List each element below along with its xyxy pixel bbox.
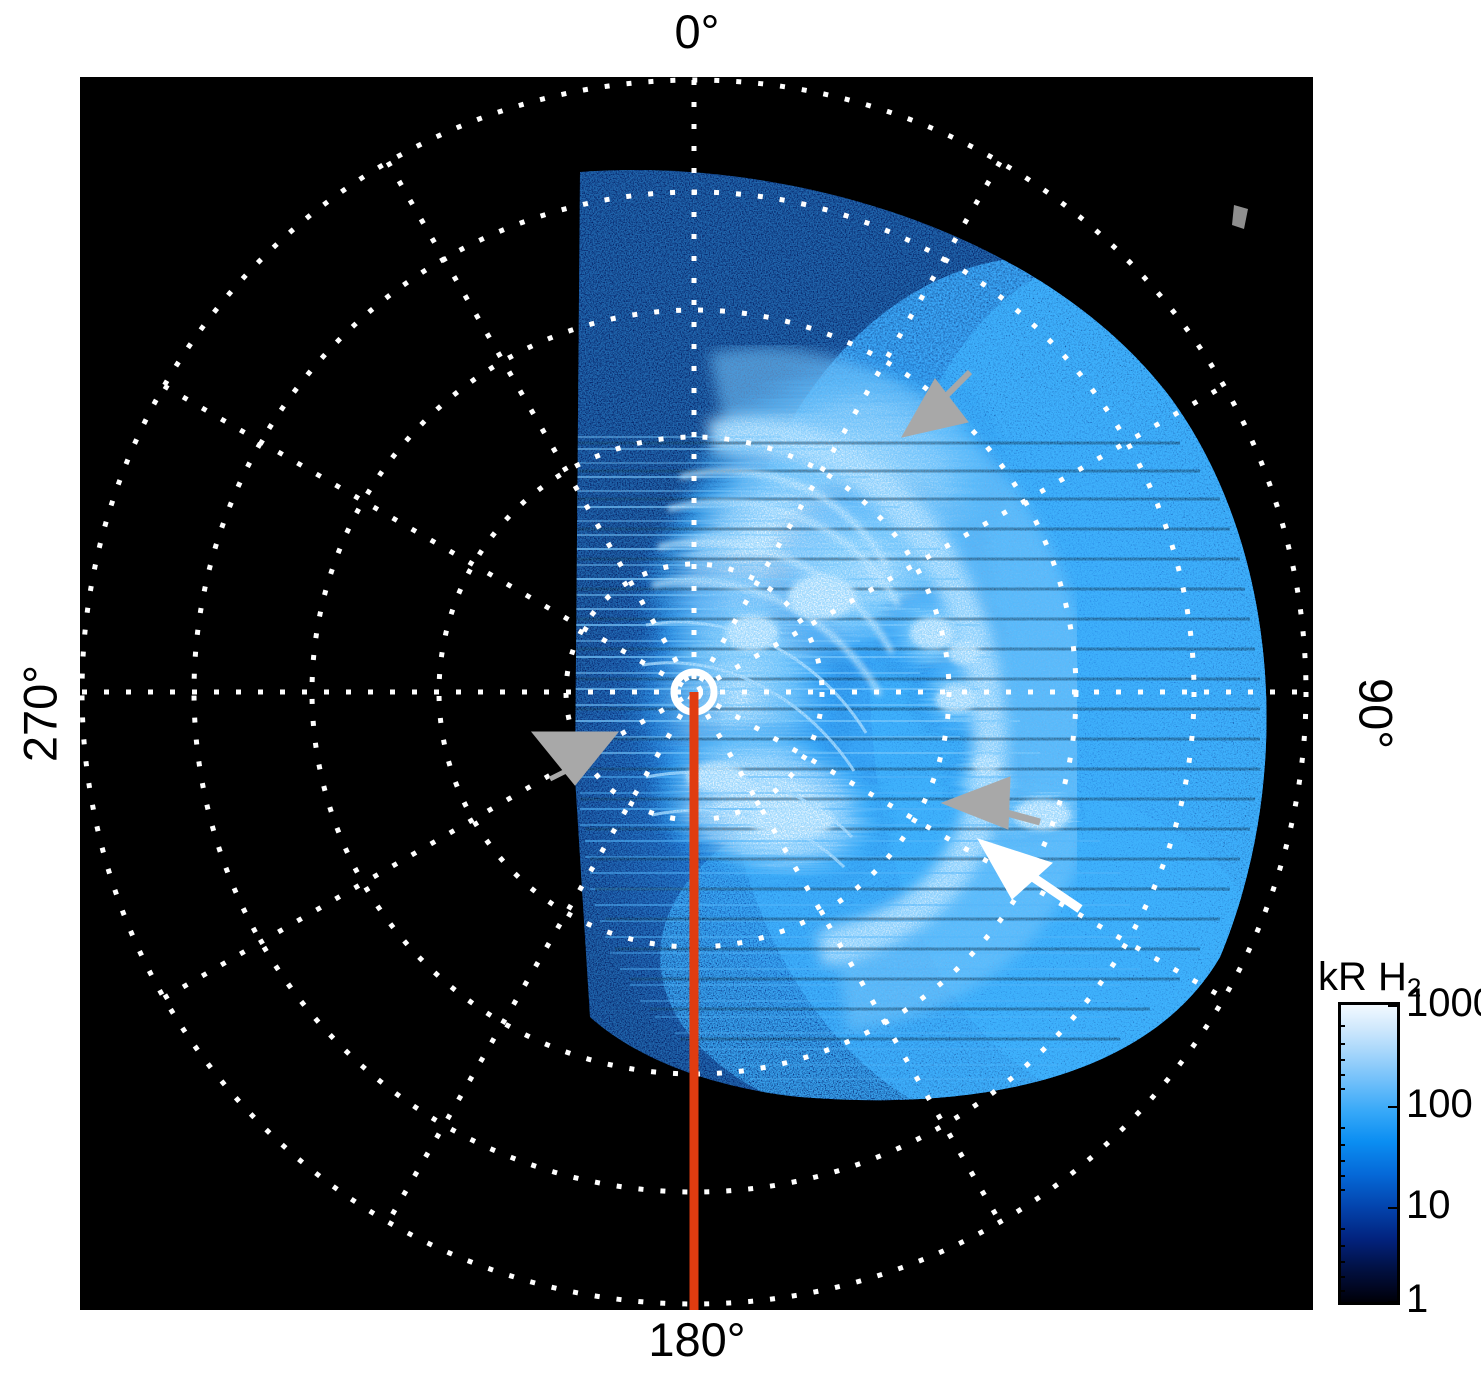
colorbar-minor-tick [1338,1189,1345,1191]
colorbar-tick-100 [1388,1106,1400,1108]
colorbar-minor-tick [1338,1059,1345,1061]
colorbar-minor-tick [1338,1276,1345,1278]
colorbar-gradient [1338,1002,1400,1305]
colorbar-tick-1 [1388,1301,1400,1303]
colorbar-label-10: 10 [1406,1185,1451,1225]
colorbar: kR H2 1000 100 10 1 [1318,955,1481,1315]
axis-label-top: 0° [0,8,1394,55]
axis-label-left: 270° [17,614,64,814]
colorbar-minor-tick [1338,1144,1345,1146]
colorbar-minor-tick [1338,1074,1345,1076]
colorbar-tick-10 [1388,1207,1400,1209]
aurora-data-image [80,77,1313,1310]
polar-plot-panel [80,77,1313,1310]
colorbar-minor-tick [1338,1245,1345,1247]
colorbar-minor-tick [1338,1043,1345,1045]
axis-label-right: 90° [1353,614,1400,814]
aurora-pixel-noise [550,137,1313,1137]
colorbar-minor-tick [1338,1228,1345,1230]
colorbar-label-1000: 1000 [1406,983,1481,1023]
colorbar-label-1: 1 [1406,1279,1428,1319]
colorbar-minor-tick [1338,1175,1345,1177]
colorbar-minor-tick [1338,1160,1345,1162]
colorbar-minor-tick [1338,1088,1345,1090]
axis-label-bottom: 180° [0,1316,1394,1363]
colorbar-label-100: 100 [1406,1084,1473,1124]
colorbar-minor-tick [1338,1261,1345,1263]
colorbar-minor-tick [1338,1127,1345,1129]
colorbar-minor-tick [1338,1290,1345,1292]
polar-aurora-figure: 0° 180° 270° 90° kR H2 1000 100 10 1 [0,0,1481,1384]
colorbar-title-main: kR H [1318,955,1407,999]
colorbar-minor-tick [1338,1025,1345,1027]
colorbar-tick-1000 [1388,1005,1400,1007]
